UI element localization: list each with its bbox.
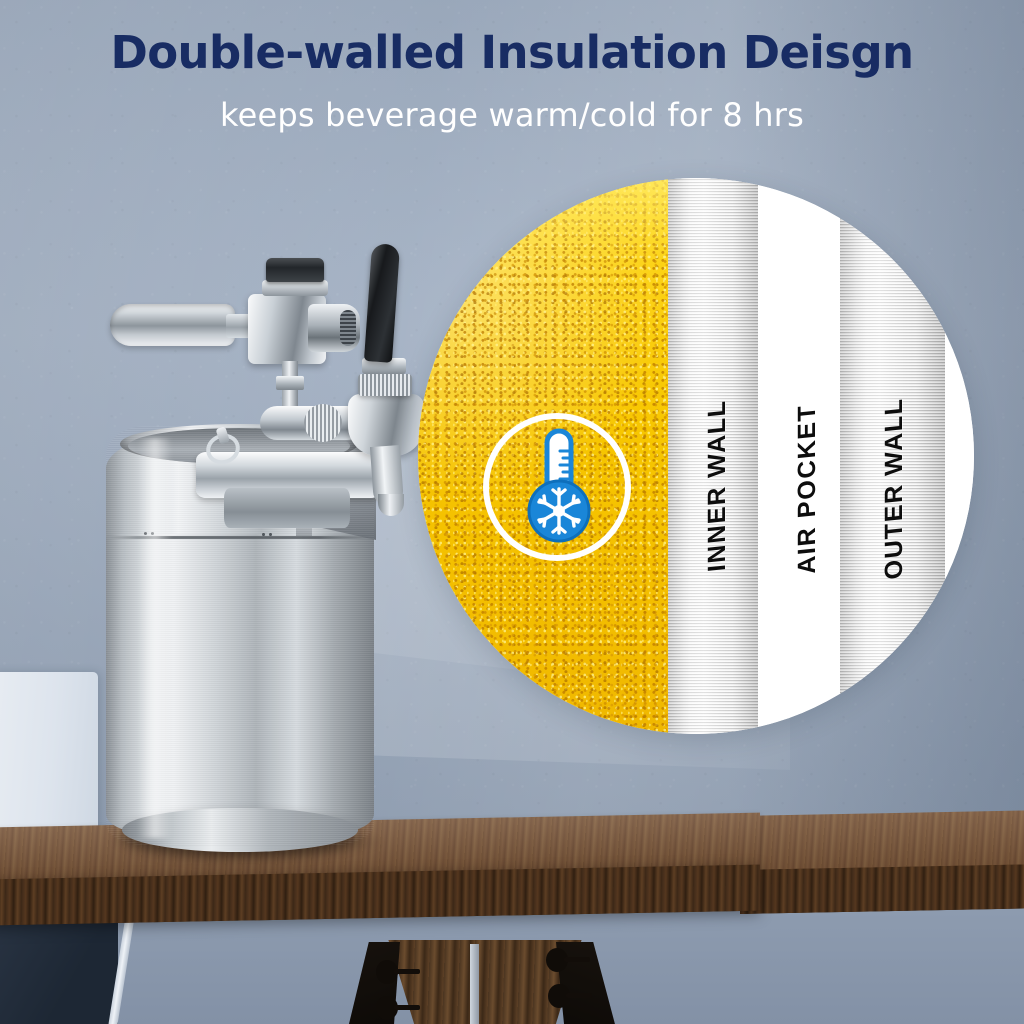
tap-handle [364,243,400,363]
faucet-knurled-collar [358,374,412,396]
tuning-peg-icon [546,948,568,972]
co2-regulator-port [308,304,360,352]
beverage-foam [418,178,668,264]
tuning-peg-icon [376,960,398,984]
stainless-steel-mini-keg [100,248,440,868]
label-inner-wall: INNER WALL [703,398,732,573]
layer-outside [945,178,974,734]
keg-lid-collar [224,488,350,528]
page-title: Double-walled Insulation Deisgn [0,26,1024,79]
regulator-knob [266,258,324,282]
label-air-pocket: AIR POCKET [793,402,822,575]
regulator-nut [276,376,304,390]
white-chair-back [0,672,98,830]
co2-cartridge [110,304,235,346]
under-table-metal-rod [470,944,479,1024]
regulator-knob-base [262,280,328,296]
thermometer-snowflake-icon [520,427,598,547]
table-edge-right [740,864,1024,914]
page-subtitle: keeps beverage warm/cold for 8 hrs [0,96,1024,134]
faucet-spout-tip [378,494,404,516]
label-outer-wall: OUTER WALL [880,396,909,580]
faucet-shank-nut [304,404,342,442]
product-marketing-image: INNER WALL AIR POCKET OUTER WALL [0,0,1024,1024]
tuning-peg-icon [376,996,398,1020]
tuning-peg-icon [548,984,570,1008]
keg-highlight [138,438,172,838]
